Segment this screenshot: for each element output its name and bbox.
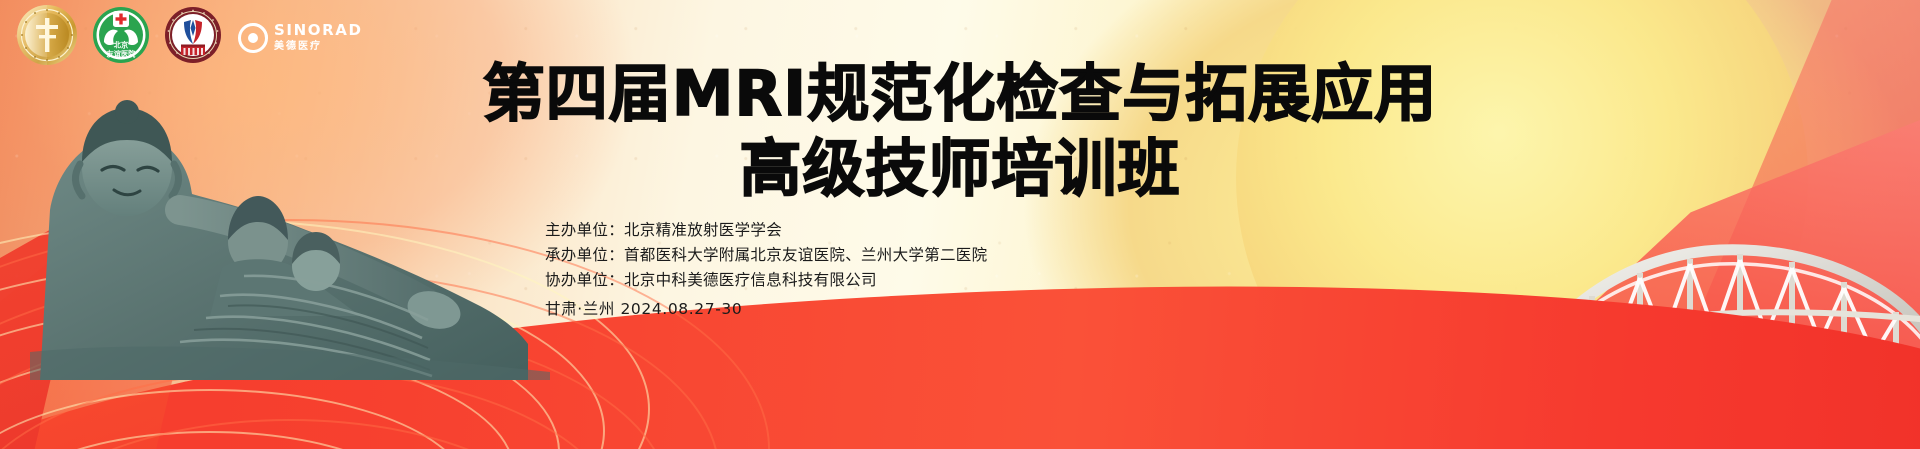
co-organizer-line: 协办单位：北京中科美德医疗信息科技有限公司 (545, 268, 987, 293)
friendship-hospital-label-bottom: 友谊医院 (106, 50, 137, 59)
sinorad-brand-cn-text: 美德医疗 (274, 42, 363, 52)
sinorad-brand-text: SINORAD (274, 23, 363, 38)
beijing-friendship-hospital-logo: 北京 友谊医院 (92, 6, 150, 69)
title-line-1: 第四届MRI规范化检查与拓展应用 (0, 62, 1920, 125)
organizer-info-block: 主办单位：北京精准放射医学学会 承办单位：首都医科大学附属北京友谊医院、兰州大学… (545, 218, 987, 322)
gold-seal-logo (16, 4, 78, 71)
sinorad-logo: SINORAD 美德医疗 (236, 23, 363, 53)
banner-title: 第四届MRI规范化检查与拓展应用 高级技师培训班 (0, 62, 1920, 200)
logo-row: 北京 友谊医院 (16, 4, 363, 71)
host-organization-line: 主办单位：北京精准放射医学学会 (545, 218, 987, 243)
friendship-hospital-label-top: 北京 (114, 41, 128, 50)
title-line-2: 高级技师培训班 (0, 137, 1920, 200)
lanzhou-university-second-hospital-logo (164, 6, 222, 69)
undertaker-organization-line: 承办单位：首都医科大学附属北京友谊医院、兰州大学第二医院 (545, 243, 987, 268)
sinorad-mark-icon (238, 23, 268, 53)
date-location-line: 甘肃·兰州 2024.08.27-30 (545, 297, 987, 322)
conference-banner: 北京 友谊医院 (0, 0, 1920, 449)
